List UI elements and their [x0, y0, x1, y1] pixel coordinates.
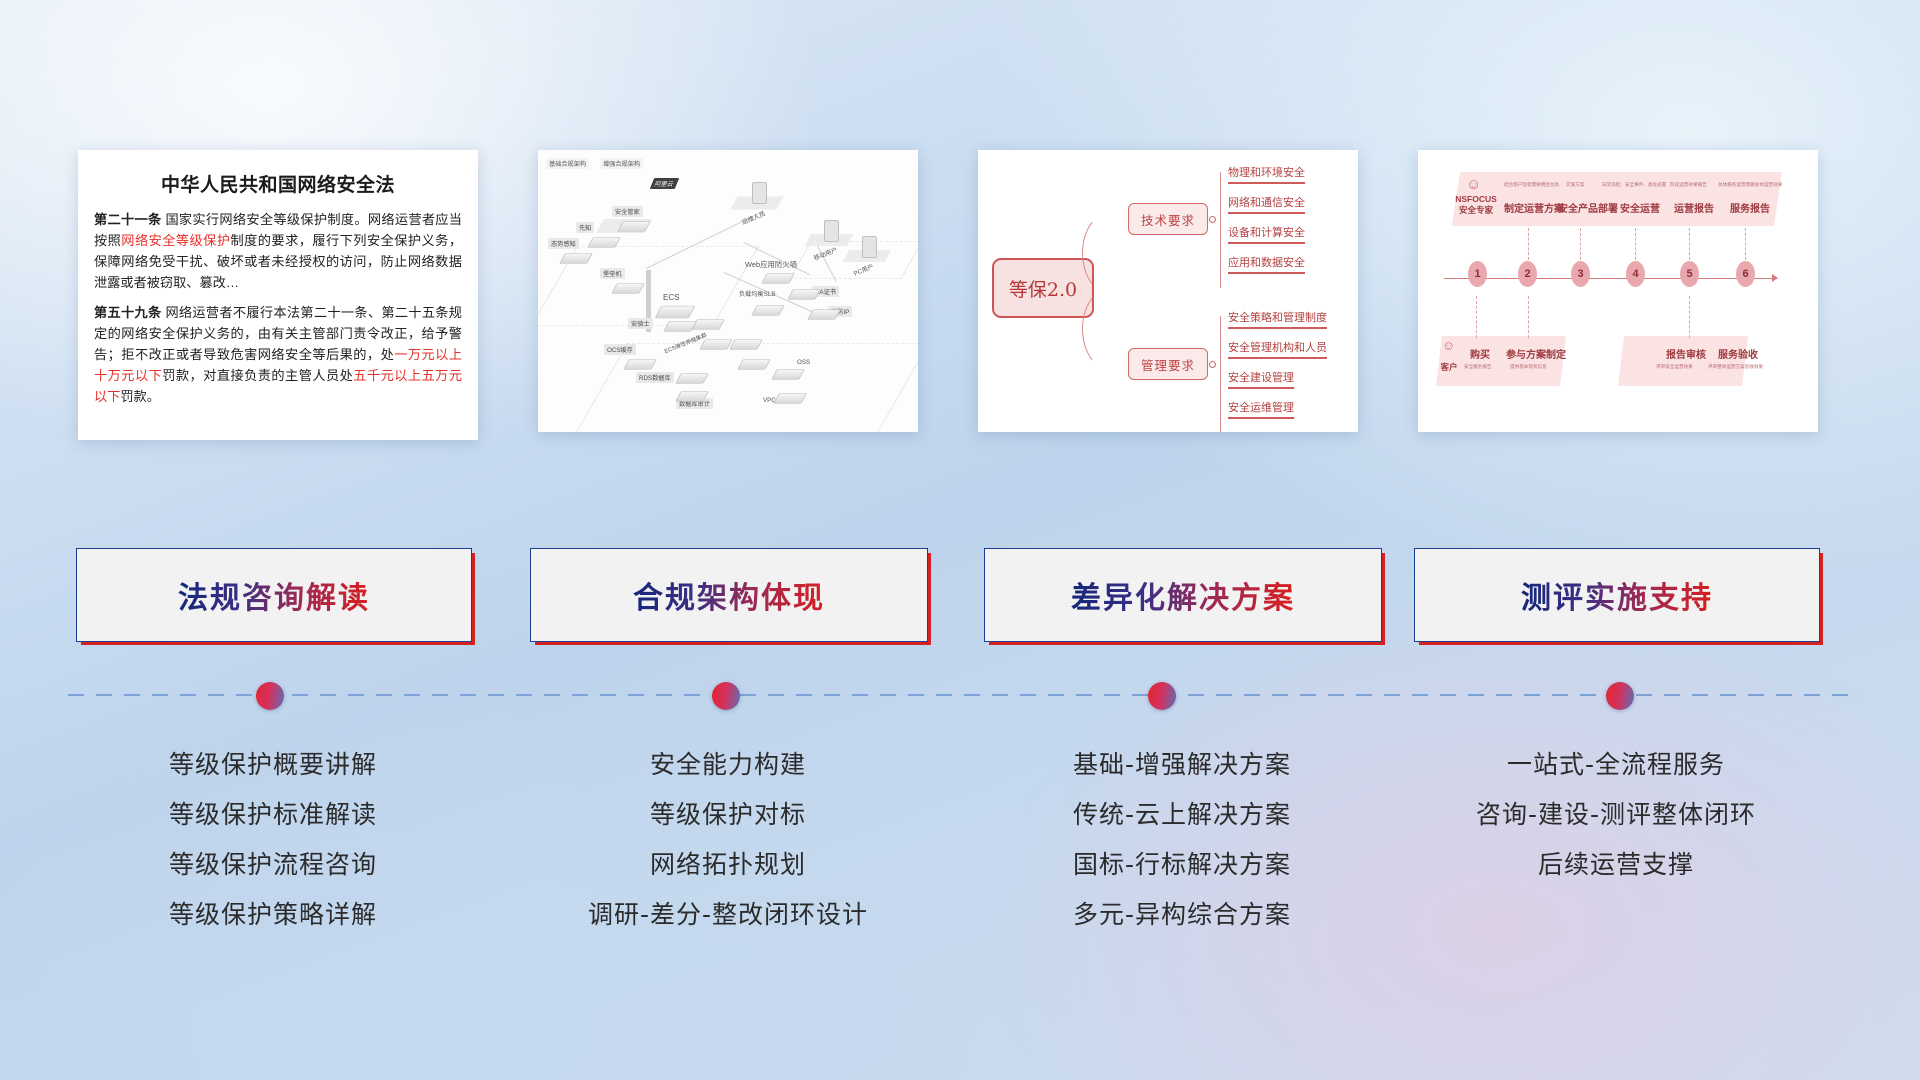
- customer-step-sub-3: 评审安全运营效果: [1656, 364, 1693, 370]
- server-icon: [824, 220, 839, 242]
- timeline-step-5[interactable]: 5: [1680, 261, 1699, 287]
- mindmap-leaf: 物理和环境安全: [1228, 164, 1305, 184]
- section-title-box-3[interactable]: 差异化解决方案: [984, 548, 1382, 642]
- timeline-leader-line: [1635, 228, 1636, 260]
- customer-persona: 客户: [1436, 362, 1462, 373]
- list-item: 调研-差分-整改闭环设计: [530, 890, 926, 940]
- rail-bullet-3[interactable]: [1148, 682, 1176, 710]
- timeline-leader-line: [1745, 228, 1746, 260]
- node-label-ocs: OCS缓存: [604, 344, 636, 355]
- mindmap-leaf: 安全运维管理: [1228, 399, 1294, 419]
- node-waf: [761, 273, 795, 284]
- mindmap-leaf: 安全建设管理: [1228, 369, 1294, 389]
- mindmap-connector: [1220, 363, 1221, 432]
- slide-canvas: 中华人民共和国网络安全法 第二十一条 国家实行网络安全等级保护制度。网络运营者应…: [0, 0, 1920, 1080]
- list-item: 咨询-建设-测评整体闭环: [1414, 790, 1818, 840]
- mindmap-branch-technical: 技术要求: [1128, 203, 1208, 235]
- timeline-step-title-2: 制定运营方案: [1504, 200, 1564, 215]
- timeline-dashed-rail: [68, 694, 1852, 696]
- section-title-label: 合规架构体现: [633, 573, 825, 617]
- list-item: 网络拓扑规划: [530, 840, 926, 890]
- law-text-seg: 罚款，对直接负责的主管人员处: [162, 368, 353, 383]
- section-title-box-4[interactable]: 测评实施支持: [1414, 548, 1820, 642]
- timeline-step-2[interactable]: 2: [1518, 261, 1537, 287]
- node-ecs-instance: [737, 359, 771, 370]
- customer-step-title-2: 参与方案制定: [1506, 346, 1566, 361]
- cloud-label: 阿里云: [650, 178, 679, 189]
- timeline-step-sub-4: 日常巡检、安全事件、高危处置: [1602, 182, 1666, 188]
- law-preview-card[interactable]: 中华人民共和国网络安全法 第二十一条 国家实行网络安全等级保护制度。网络运营者应…: [78, 150, 478, 440]
- timeline-step-6[interactable]: 6: [1736, 261, 1755, 287]
- timeline-leader-line: [1528, 296, 1529, 338]
- list-item: 国标-行标解决方案: [984, 840, 1380, 890]
- node-label-xianzhi: 先知: [576, 222, 594, 233]
- timeline-bottom-band-right: [1618, 336, 1748, 386]
- node-ecs: [655, 306, 696, 318]
- node-label-waf: Web应用防火墙: [742, 258, 800, 271]
- node-vpc: [773, 393, 807, 404]
- zone-center: [561, 343, 918, 432]
- timeline-step-title-4: 安全运营: [1620, 200, 1660, 215]
- list-item: 等级保护标准解读: [76, 790, 470, 840]
- timeline-top-band: [1452, 172, 1782, 226]
- timeline-leader-line: [1689, 228, 1690, 260]
- section-title-label: 测评实施支持: [1521, 573, 1713, 617]
- timeline-step-title-3: 安全产品部署: [1558, 200, 1618, 215]
- law-article-label-1: 第二十一条: [94, 212, 161, 227]
- node-slb: [751, 305, 785, 316]
- node-oss: [771, 369, 805, 380]
- timeline-leader-line: [1580, 228, 1581, 260]
- section-items-4: 一站式-全流程服务 咨询-建设-测评整体闭环 后续运营支撑: [1414, 740, 1818, 890]
- node-label-anqishi: 安骑士: [628, 318, 653, 329]
- timeline-step-sub-2: 结合客户现状需要明后台具: [1504, 182, 1559, 188]
- list-item: 多元-异构综合方案: [984, 890, 1380, 940]
- mindmap-root: 等保2.0: [992, 258, 1094, 318]
- nsfocus-service-timeline: ☺ NSFOCUS 安全专家 1 2 3 4 5 6 结合客: [1418, 150, 1818, 432]
- node-label-bastion: 堡垒机: [600, 268, 625, 279]
- timeline-leader-line: [1528, 228, 1529, 260]
- list-item: 安全能力构建: [530, 740, 926, 790]
- mindmap-leaf: 安全策略和管理制度: [1228, 309, 1327, 329]
- timeline-step-title-6: 服务报告: [1730, 200, 1770, 215]
- legend-enhanced: 增强合规架构: [600, 158, 643, 169]
- node-label-slb: 负载均衡SLB: [736, 288, 778, 299]
- mindmap-collapse-dot[interactable]: [1209, 361, 1216, 368]
- law-highlight-seg: 网络安全等级保护: [121, 233, 230, 248]
- timeline-leader-line: [1689, 296, 1690, 338]
- section-title-box-1[interactable]: 法规咨询解读: [76, 548, 472, 642]
- list-item: 等级保护策略详解: [76, 890, 470, 940]
- timeline-leader-line: [1476, 296, 1477, 338]
- node-label-ecs: ECS: [660, 292, 682, 303]
- node-situation-awareness: [559, 253, 593, 264]
- timeline-step-sub-5: 阶段运营效果报告: [1670, 182, 1707, 188]
- section-items-2: 安全能力构建 等级保护对标 网络拓扑规划 调研-差分-整改闭环设计: [530, 740, 926, 940]
- list-item: 等级保护对标: [530, 790, 926, 840]
- list-item: 一站式-全流程服务: [1414, 740, 1818, 790]
- timeline-bottom-band-left: [1436, 336, 1566, 386]
- timeline-step-4[interactable]: 4: [1626, 261, 1645, 287]
- customer-step-sub-4: 评审整体运营方案验收效果: [1708, 364, 1763, 370]
- server-icon: [752, 182, 767, 204]
- law-text-seg: 罚款。: [120, 389, 160, 404]
- mindmap-leaf: 设备和计算安全: [1228, 224, 1305, 244]
- node-xianzhi: [587, 237, 621, 248]
- customer-step-sub-1: 安全服务报告: [1464, 364, 1492, 370]
- timeline-axis: [1444, 278, 1774, 279]
- customer-step-title-3: 报告审核: [1666, 346, 1706, 361]
- mindmap-connector: [1220, 218, 1221, 288]
- dengbao-mindmap: 等保2.0 技术要求 管理要求 物理和环境安全 网络和通信安全 设备和计算安全 …: [978, 150, 1358, 432]
- node-label-situation: 态势感知: [548, 238, 579, 249]
- law-title: 中华人民共和国网络安全法: [94, 170, 462, 197]
- section-title-label: 法规咨询解读: [178, 573, 370, 617]
- node-label-security-butler: 安全管家: [612, 206, 643, 217]
- customer-step-title-1: 购买: [1470, 346, 1490, 361]
- list-item: 等级保护流程咨询: [76, 840, 470, 890]
- node-rds-db: [675, 373, 709, 384]
- expert-persona: NSFOCUS 安全专家: [1454, 194, 1498, 216]
- rail-bullet-4[interactable]: [1606, 682, 1634, 710]
- list-item: 基础-增强解决方案: [984, 740, 1380, 790]
- law-paragraph-2: 第五十九条 网络运营者不履行本法第二十一条、第二十五条规定的网络安全保护义务的，…: [94, 302, 462, 407]
- node-bastion-host: [611, 283, 645, 294]
- architecture-preview-card[interactable]: 基础合规架构 增强合规架构 阿里云 安全管家 先知 态势感知: [538, 150, 918, 432]
- node-label-ops: 运维人员: [737, 207, 770, 229]
- timeline-step-sub-3: 实施方案: [1566, 182, 1584, 188]
- node-anti-ddos: [807, 309, 841, 320]
- server-icon: [862, 236, 877, 258]
- mindmap-collapse-dot[interactable]: [1209, 216, 1216, 223]
- mindmap-leaf: 网络和通信安全: [1228, 194, 1305, 214]
- node-ecs-instance: [699, 339, 733, 350]
- list-item: 等级保护概要讲解: [76, 740, 470, 790]
- node-ecs-instance: [729, 339, 763, 350]
- node-ocs-cache: [623, 359, 657, 370]
- preview-cards-row: 中华人民共和国网络安全法 第二十一条 国家实行网络安全等级保护制度。网络运营者应…: [0, 150, 1920, 440]
- section-title-label: 差异化解决方案: [1071, 573, 1295, 617]
- law-paragraph-1: 第二十一条 国家实行网络安全等级保护制度。网络运营者应当按照网络安全等级保护制度…: [94, 209, 462, 293]
- customer-step-title-4: 服务验收: [1718, 346, 1758, 361]
- mindmap-preview-card[interactable]: 等保2.0 技术要求 管理要求 物理和环境安全 网络和通信安全 设备和计算安全 …: [978, 150, 1358, 432]
- mindmap-branch-management: 管理要求: [1128, 348, 1208, 380]
- timeline-arrow-icon: [1772, 274, 1778, 282]
- node-ca-cert: [787, 289, 821, 300]
- service-timeline-preview-card[interactable]: ☺ NSFOCUS 安全专家 1 2 3 4 5 6 结合客: [1418, 150, 1818, 432]
- timeline-step-3[interactable]: 3: [1571, 261, 1590, 287]
- law-article-label-2: 第五十九条: [94, 305, 161, 320]
- timeline-step-title-5: 运营报告: [1674, 200, 1714, 215]
- expert-name: NSFOCUS: [1455, 194, 1497, 204]
- section-items-1: 等级保护概要讲解 等级保护标准解读 等级保护流程咨询 等级保护策略详解: [76, 740, 470, 940]
- node-label-rds: RDS数据库: [636, 372, 674, 383]
- node-db-audit: [675, 391, 709, 402]
- rail-bullet-1[interactable]: [256, 682, 284, 710]
- list-item: 后续运营支撑: [1414, 840, 1818, 890]
- expert-person-icon: ☺: [1466, 176, 1481, 193]
- cloud-architecture-diagram: 基础合规架构 增强合规架构 阿里云 安全管家 先知 态势感知: [538, 150, 918, 432]
- timeline-step-sub-6: 总体服务运营周期总体运营效果: [1718, 182, 1782, 188]
- list-item: 传统-云上解决方案: [984, 790, 1380, 840]
- node-label-oss: OSS: [794, 358, 813, 367]
- section-titles-row: 法规咨询解读 合规架构体现 差异化解决方案 测评实施支持: [0, 548, 1920, 644]
- expert-role: 安全专家: [1459, 205, 1493, 215]
- mindmap-leaf: 应用和数据安全: [1228, 254, 1305, 274]
- section-title-box-2[interactable]: 合规架构体现: [530, 548, 928, 642]
- law-document: 中华人民共和国网络安全法 第二十一条 国家实行网络安全等级保护制度。网络运营者应…: [78, 150, 478, 440]
- rail-bullet-2[interactable]: [712, 682, 740, 710]
- section-items-3: 基础-增强解决方案 传统-云上解决方案 国标-行标解决方案 多元-异构综合方案: [984, 740, 1380, 940]
- node-ecs-instance: [691, 319, 725, 330]
- customer-person-icon: ☺: [1442, 338, 1455, 353]
- customer-step-sub-2: 提供基本现状信息: [1510, 364, 1547, 370]
- node-security-butler: [617, 221, 651, 232]
- timeline-step-1[interactable]: 1: [1468, 261, 1487, 287]
- legend-basic: 基础合规架构: [546, 158, 589, 169]
- mindmap-leaf: 安全管理机构和人员: [1228, 339, 1327, 359]
